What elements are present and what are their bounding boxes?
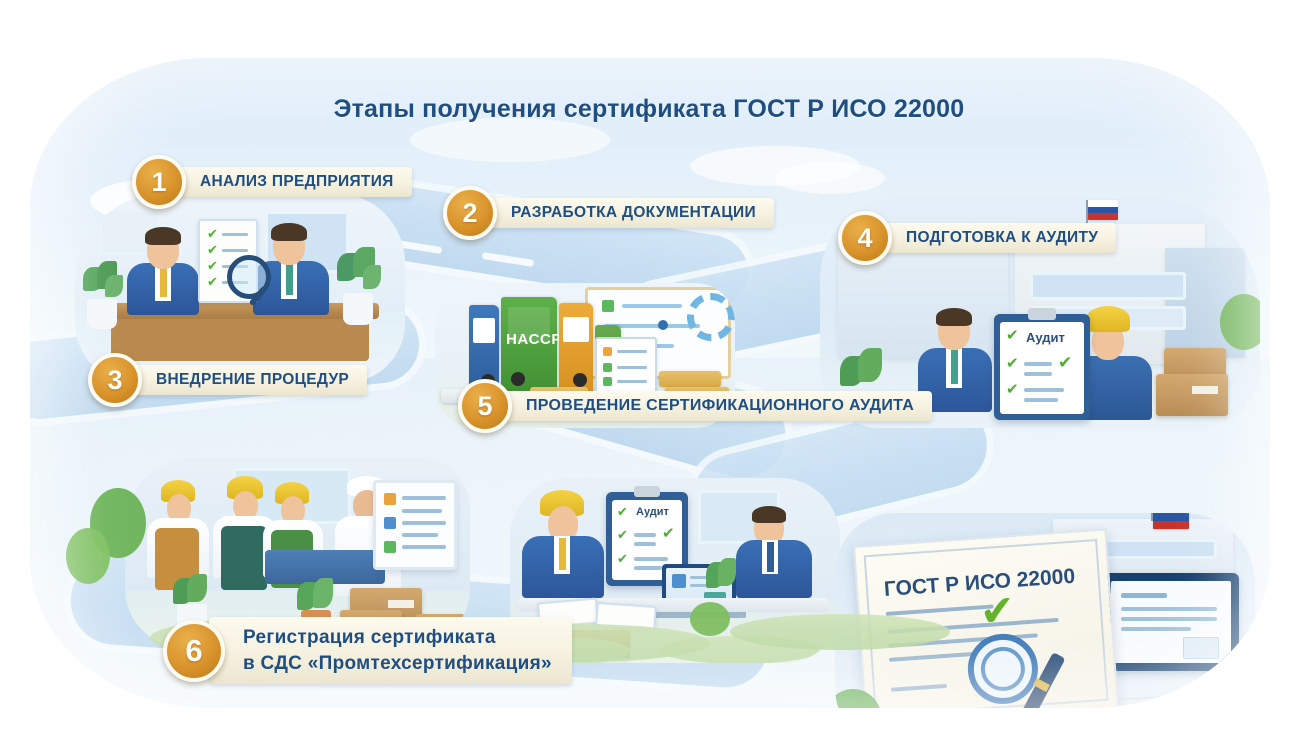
factory-window-row	[1030, 272, 1186, 300]
check-icon: ✔	[617, 505, 628, 518]
step-3[interactable]: 3 ВНЕДРЕНИЕ ПРОЦЕДУР	[88, 353, 367, 407]
audit-clipboard-5-text: Аудит	[636, 506, 669, 518]
plant-pot-left	[87, 299, 117, 329]
step-6-badge: 6	[163, 620, 225, 682]
step-6[interactable]: 6 Регистрация сертификата в СДС «Промтех…	[163, 617, 572, 684]
check-icon: ✔	[617, 528, 628, 541]
step-6-label-line2: в СДС «Промтехсертификация»	[243, 651, 552, 677]
check-icon: ✔	[978, 589, 1016, 633]
check-icon: ✔	[207, 259, 218, 272]
computer-monitor	[1103, 573, 1239, 671]
gear-icon	[687, 293, 735, 341]
step-4-badge: 4	[838, 211, 892, 265]
check-icon: ✔	[207, 243, 218, 256]
step-6-label-line1: Регистрация сертификата	[243, 625, 552, 651]
cardboard-box-b	[1156, 374, 1228, 416]
check-icon: ✔	[662, 526, 675, 541]
russian-flag-icon	[1153, 513, 1189, 529]
scene-certificate-registration: ГОСТ Р ИСО 22000 ✔	[835, 513, 1255, 708]
cloud-4	[775, 162, 885, 194]
check-icon: ✔	[207, 227, 218, 240]
bush-bottom-3	[690, 602, 730, 636]
step-2-label: РАЗРАБОТКА ДОКУМЕНТАЦИИ	[481, 198, 774, 228]
step-2[interactable]: 2 РАЗРАБОТКА ДОКУМЕНТАЦИИ	[443, 186, 774, 240]
step-1[interactable]: 1 АНАЛИЗ ПРЕДПРИЯТИЯ	[132, 155, 412, 209]
step-4[interactable]: 4 ПОДГОТОВКА К АУДИТУ	[838, 211, 1116, 265]
step-2-badge: 2	[443, 186, 497, 240]
check-icon: ✔	[207, 275, 218, 288]
page-title: Этапы получения сертификата ГОСТ Р ИСО 2…	[0, 95, 1298, 124]
bush-bottom-2	[66, 528, 110, 584]
check-icon: ✔	[1006, 382, 1019, 397]
audit-clipboard-4: Аудит ✔ ✔ ✔ ✔	[994, 314, 1090, 420]
check-icon: ✔	[1006, 356, 1019, 371]
plant-pot-right	[343, 293, 373, 325]
step-1-label: АНАЛИЗ ПРЕДПРИЯТИЯ	[170, 167, 412, 197]
step-3-label: ВНЕДРЕНИЕ ПРОЦЕДУР	[126, 365, 367, 395]
binder-haccp-text: HACCP	[506, 331, 562, 348]
grass-bottom-3	[730, 614, 950, 650]
check-icon: ✔	[1006, 328, 1019, 343]
step-4-label: ПОДГОТОВКА К АУДИТУ	[876, 223, 1116, 253]
step-5-label: ПРОВЕДЕНИЕ СЕРТИФИКАЦИОННОГО АУДИТА	[496, 391, 932, 421]
cloud-5	[410, 118, 610, 162]
check-icon: ✔	[1058, 354, 1072, 371]
step-6-label: Регистрация сертификата в СДС «Промтехсе…	[209, 617, 572, 684]
infographic-canvas: ✔ ✔ ✔ ✔	[0, 0, 1298, 752]
step-3-badge: 3	[88, 353, 142, 407]
procedure-board	[373, 480, 457, 570]
step-5-badge: 5	[458, 379, 512, 433]
audit-clipboard-4-text: Аудит	[1026, 330, 1065, 345]
check-icon: ✔	[617, 552, 628, 565]
step-5[interactable]: 5 ПРОВЕДЕНИЕ СЕРТИФИКАЦИОННОГО АУДИТА	[458, 379, 932, 433]
hard-hat-icon	[1086, 306, 1130, 332]
bush-right	[1220, 294, 1260, 350]
step-1-badge: 1	[132, 155, 186, 209]
